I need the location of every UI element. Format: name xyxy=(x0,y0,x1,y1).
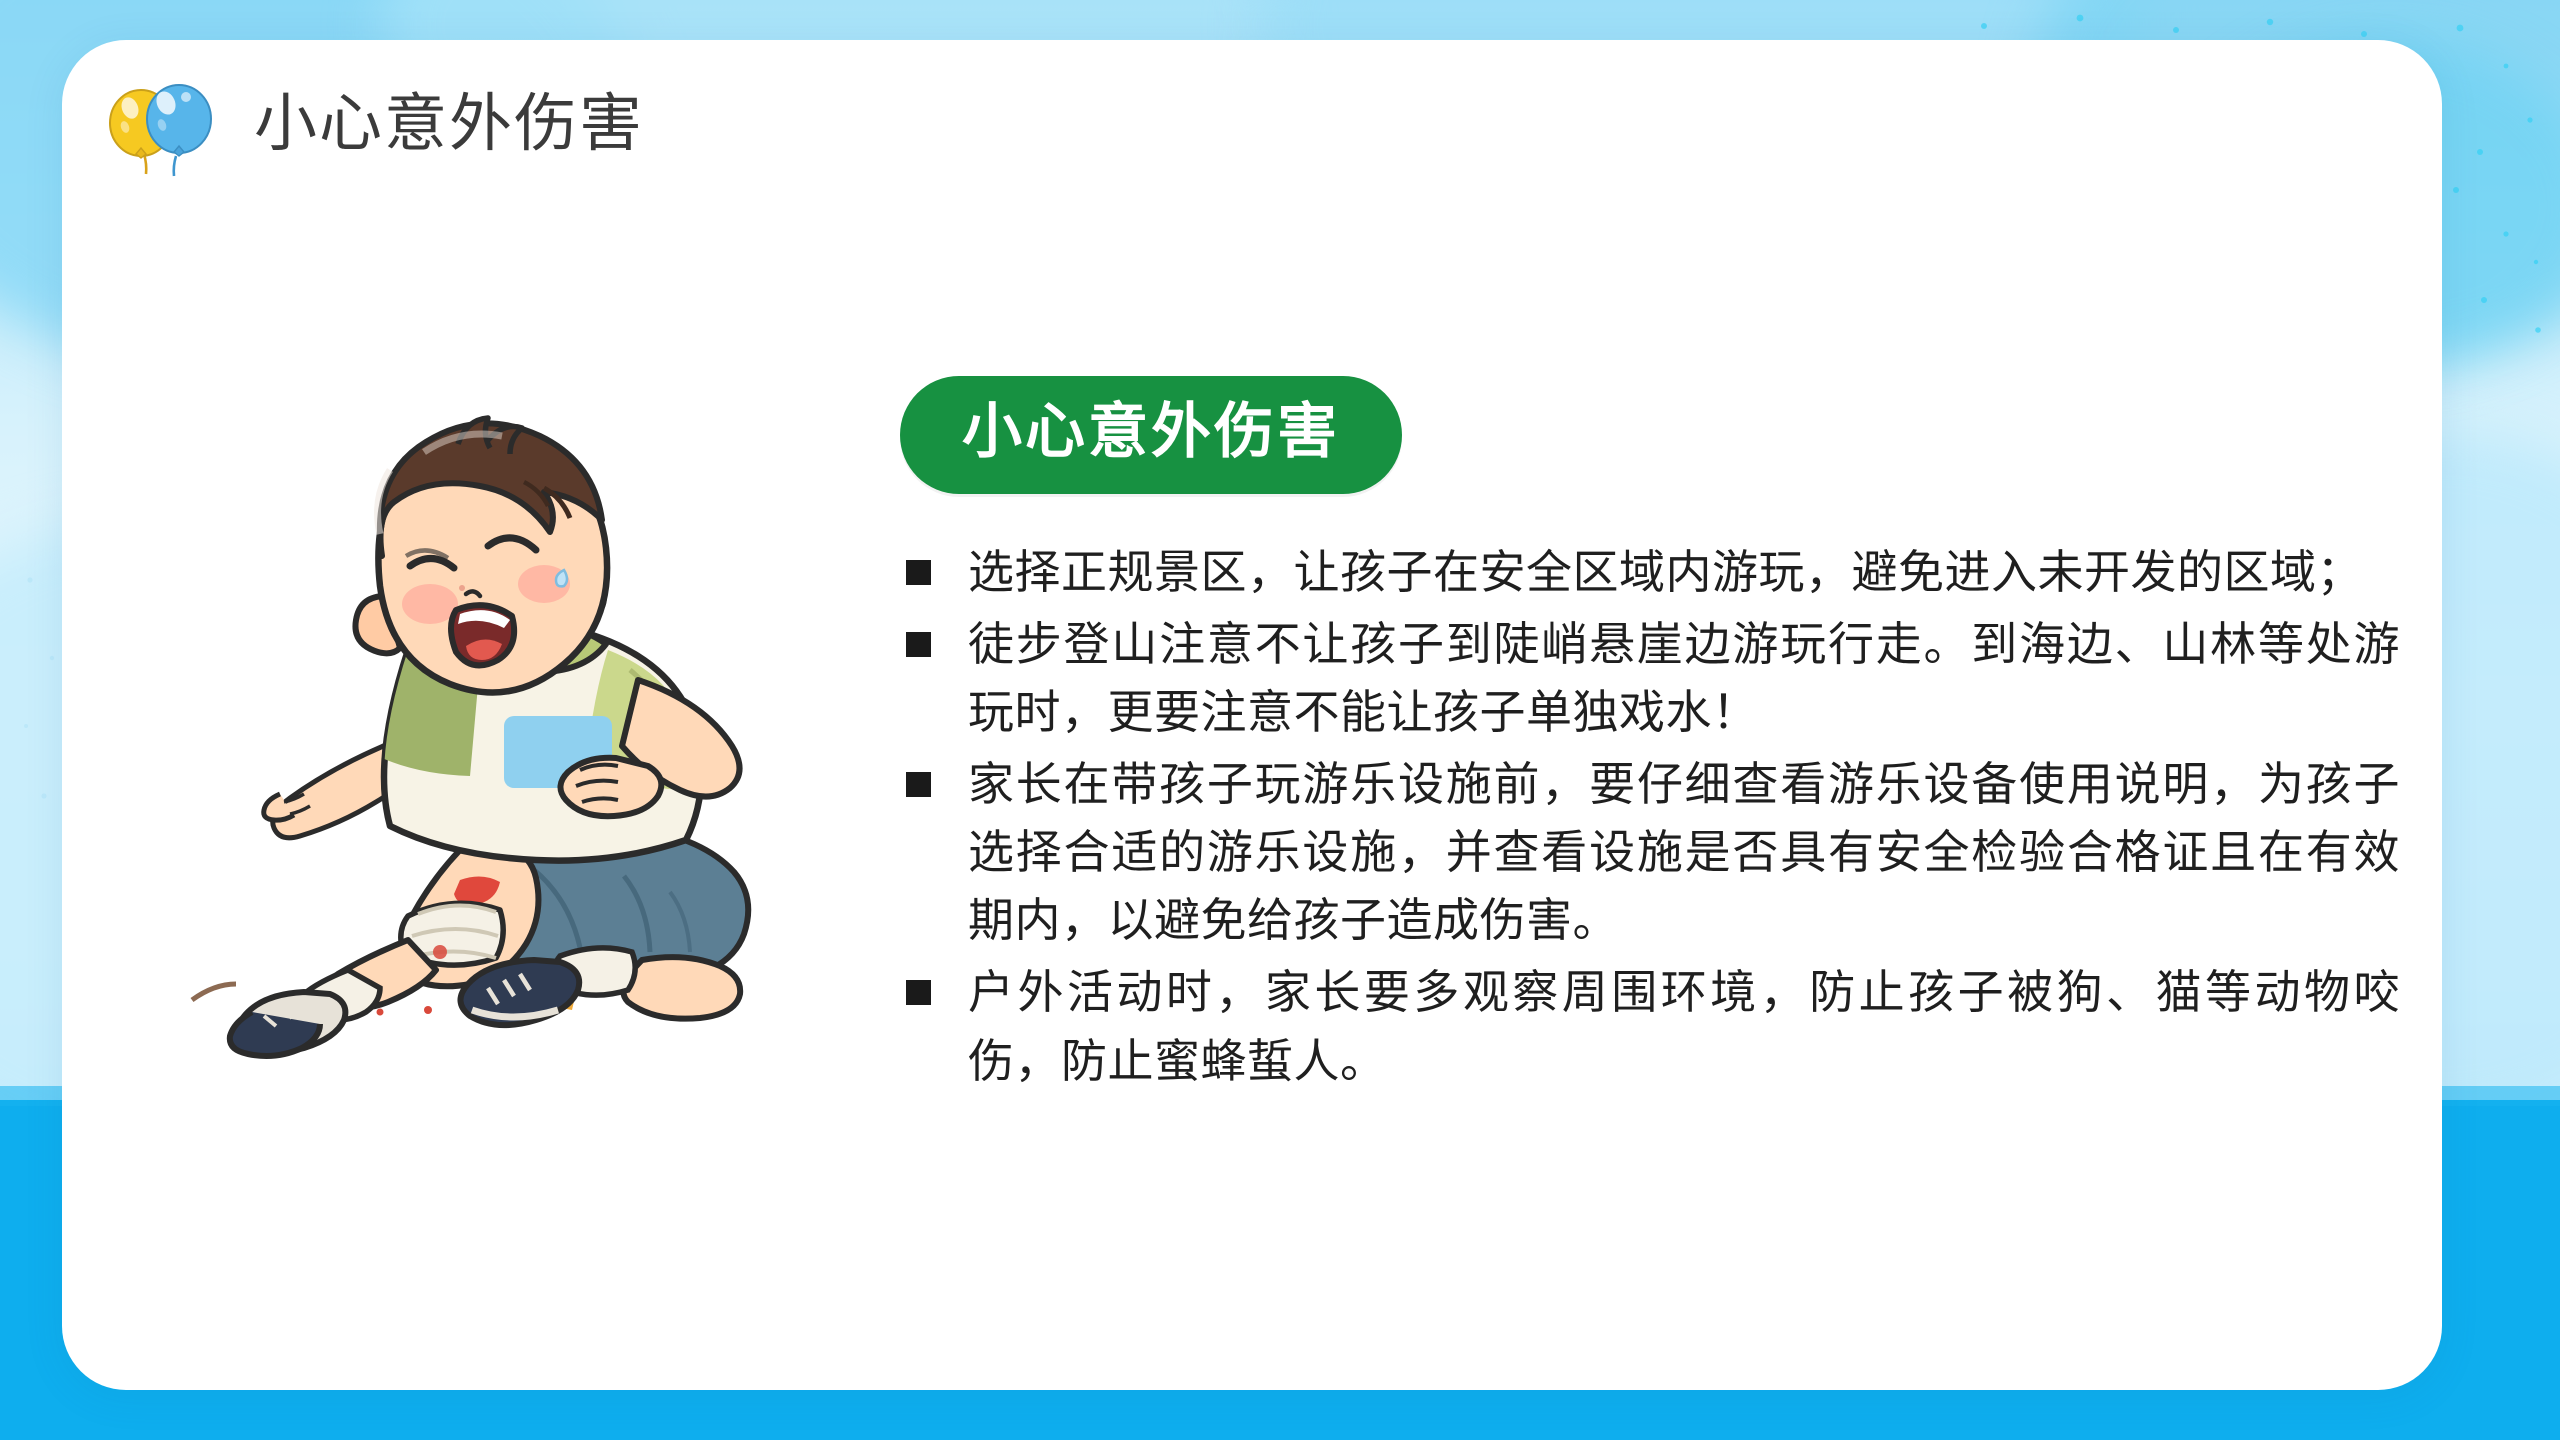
page-title: 小心意外伤害 xyxy=(254,93,644,156)
slide-header: 小心意外伤害 xyxy=(100,64,644,184)
content-card: 小心意外伤害 xyxy=(62,40,2442,1390)
status-badge: 小心意外伤害 xyxy=(900,376,1402,494)
list-item: 徒步登山注意不让孩子到陡峭悬崖边游玩行走。到海边、山林等处游玩时，更要注意不能让… xyxy=(900,610,2400,746)
list-item-text: 徒步登山注意不让孩子到陡峭悬崖边游玩行走。到海边、山林等处游玩时，更要注意不能让… xyxy=(968,610,2400,746)
balloons-icon xyxy=(100,70,222,178)
list-item-text: 家长在带孩子玩游乐设施前，要仔细查看游乐设备使用说明，为孩子选择合适的游乐设施，… xyxy=(968,750,2400,954)
bullet-square-icon xyxy=(906,980,931,1005)
bullet-square-icon xyxy=(906,560,931,585)
list-item: 家长在带孩子玩游乐设施前，要仔细查看游乐设备使用说明，为孩子选择合适的游乐设施，… xyxy=(900,750,2400,954)
list-item: 户外活动时，家长要多观察周围环境，防止孩子被狗、猫等动物咬伤，防止蜜蜂蜇人。 xyxy=(900,958,2400,1094)
list-item: 选择正规景区，让孩子在安全区域内游玩，避免进入未开发的区域； xyxy=(900,538,2400,606)
slide-root: 小心意外伤害 xyxy=(0,0,2560,1440)
bullet-square-icon xyxy=(906,772,931,797)
safety-tips-list: 选择正规景区，让孩子在安全区域内游玩，避免进入未开发的区域； 徒步登山注意不让孩… xyxy=(900,538,2400,1095)
list-item-text: 户外活动时，家长要多观察周围环境，防止孩子被狗、猫等动物咬伤，防止蜜蜂蜇人。 xyxy=(968,958,2400,1094)
crying-boy-illustration xyxy=(172,320,932,1060)
content-column: 小心意外伤害 选择正规景区，让孩子在安全区域内游玩，避免进入未开发的区域； 徒步… xyxy=(900,376,2400,1099)
list-item-text: 选择正规景区，让孩子在安全区域内游玩，避免进入未开发的区域； xyxy=(968,538,2400,606)
bullet-square-icon xyxy=(906,632,931,657)
